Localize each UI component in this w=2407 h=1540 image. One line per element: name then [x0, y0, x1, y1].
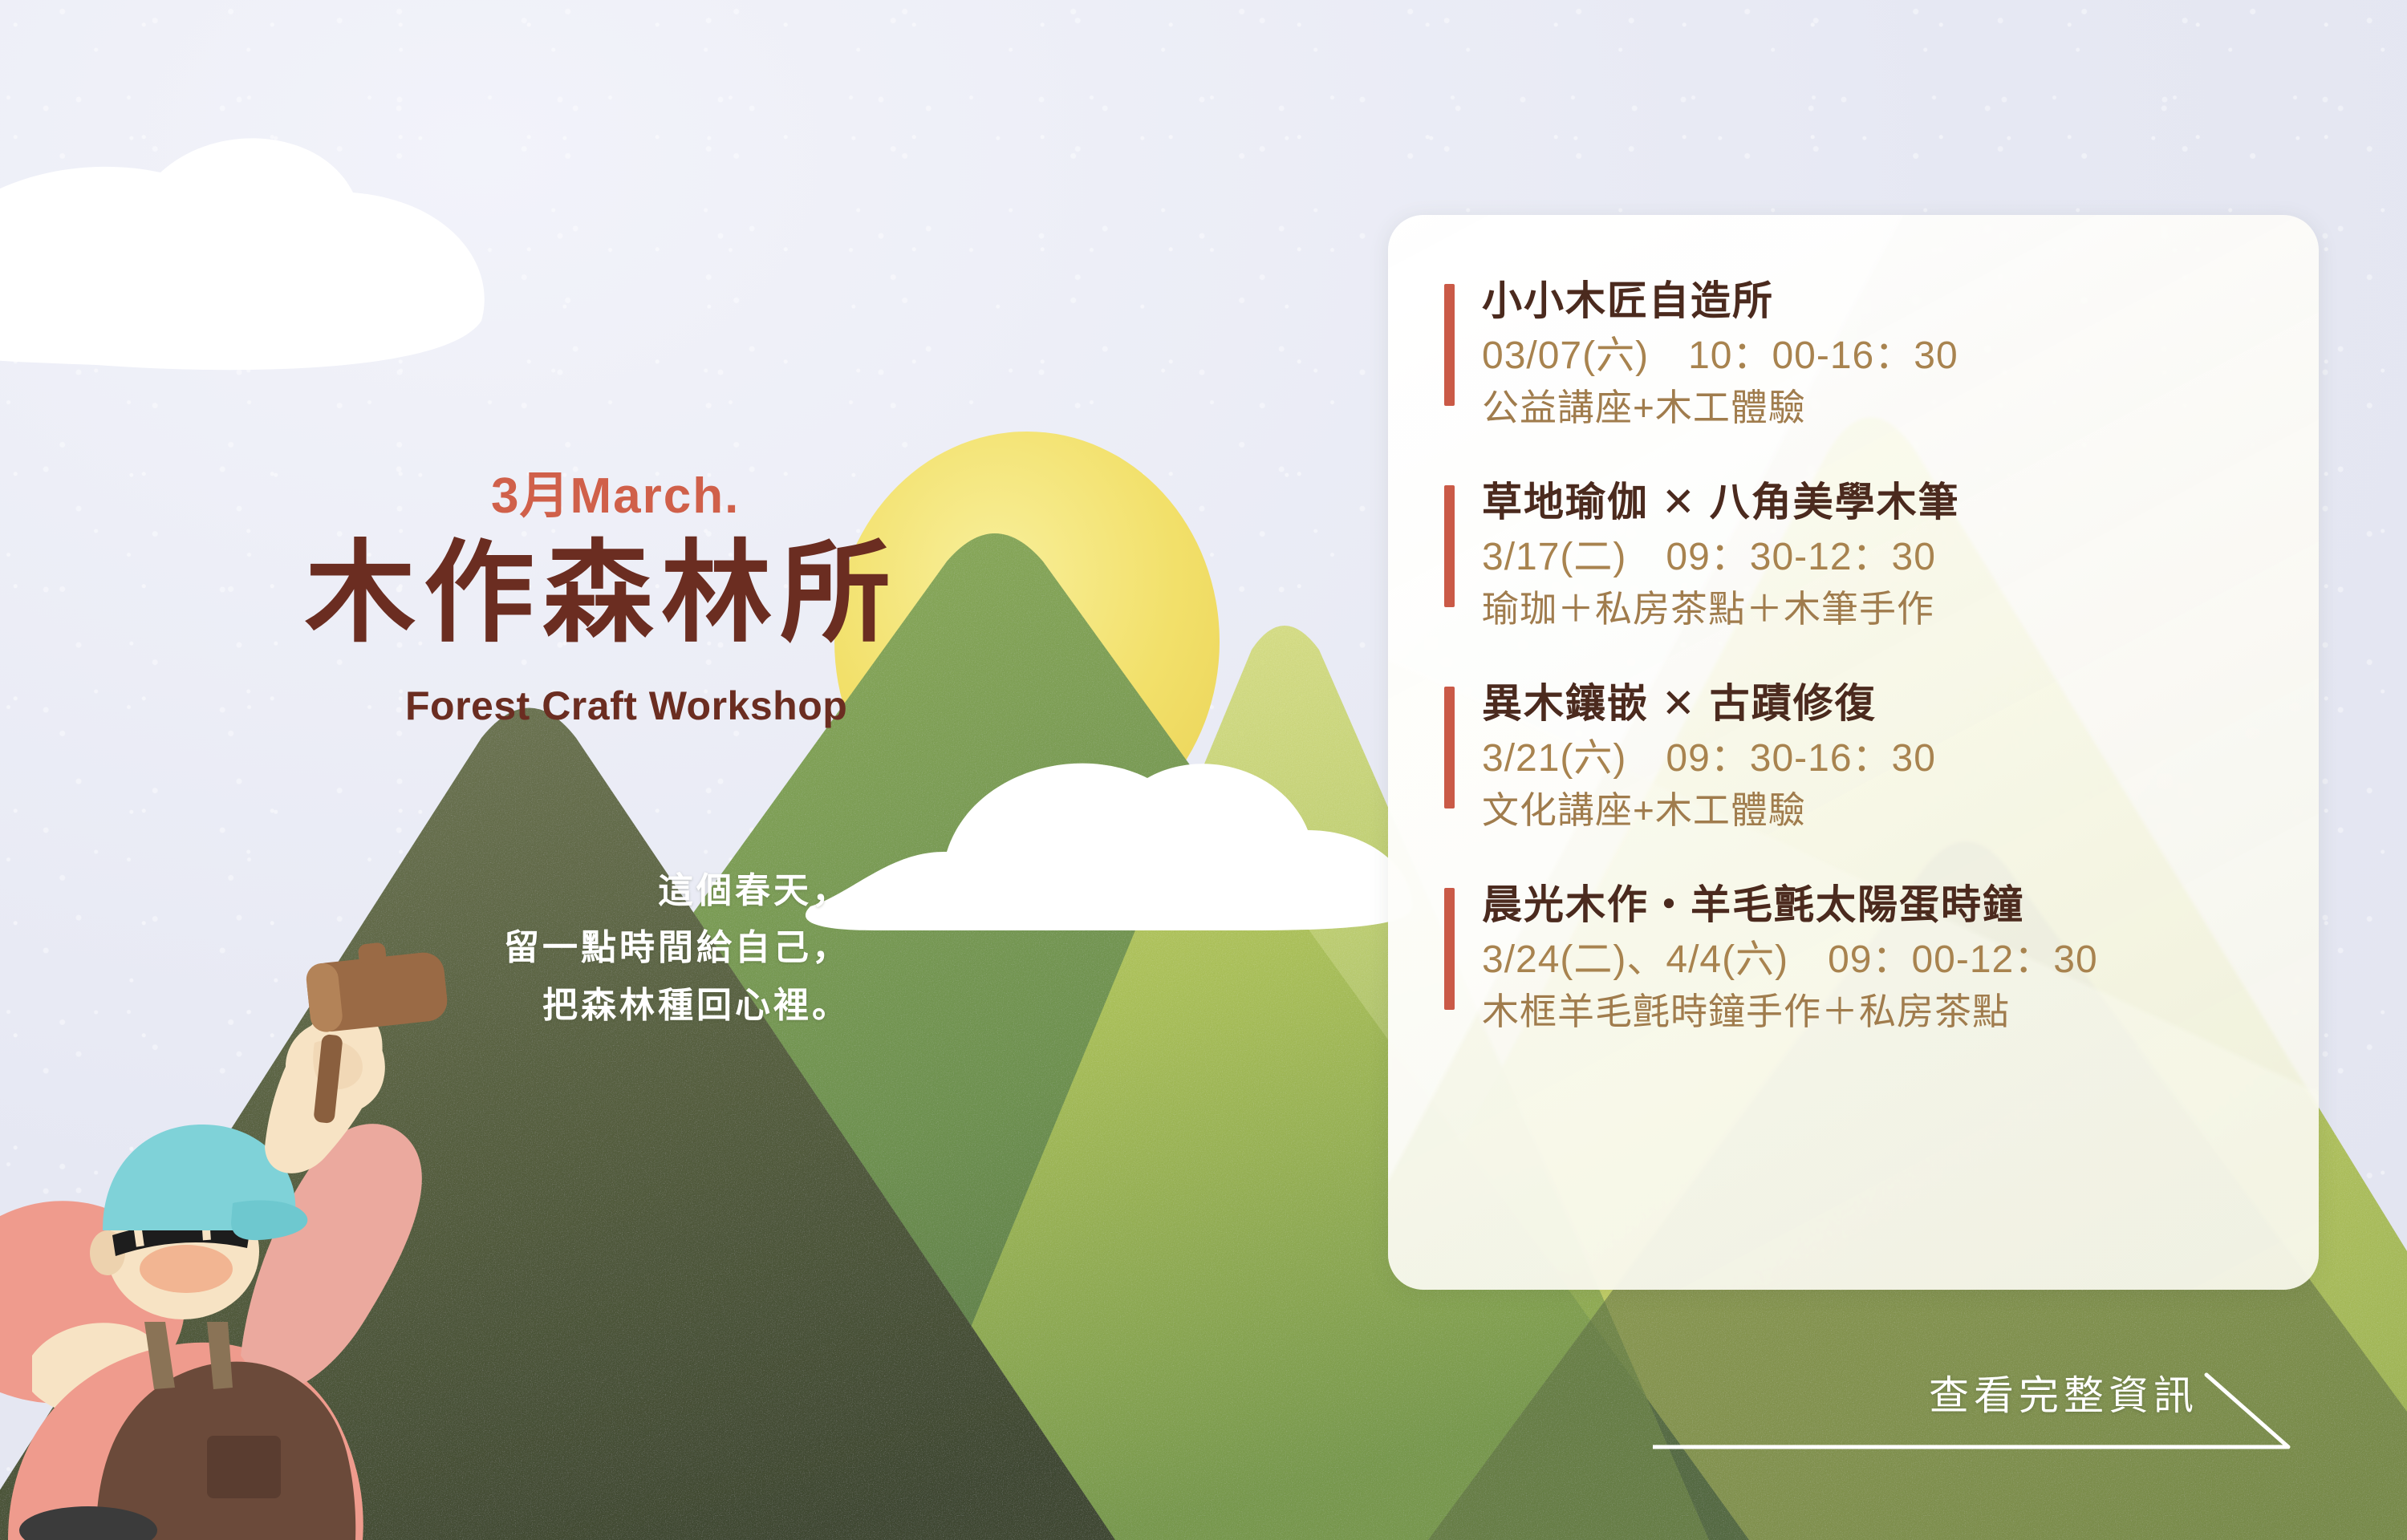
event-description: 文化講座+木工體驗: [1482, 787, 1936, 835]
accent-bar-icon: [1444, 888, 1455, 1010]
event-title: 異木鑲嵌 ✕ 古蹟修復: [1482, 680, 1936, 727]
event-body: 草地瑜伽 ✕ 八角美學木筆 3/17(二) 09：30-12：30 瑜珈＋私房茶…: [1482, 479, 1960, 634]
accent-bar-icon: [1444, 284, 1455, 406]
event-list-card: 小小木匠自造所 03/07(六) 10：00-16：30 公益講座+木工體驗 草…: [1388, 215, 2319, 1290]
event-description: 公益講座+木工體驗: [1482, 384, 1958, 432]
event-item[interactable]: 草地瑜伽 ✕ 八角美學木筆 3/17(二) 09：30-12：30 瑜珈＋私房茶…: [1444, 479, 2267, 634]
accent-bar-icon: [1444, 485, 1455, 607]
event-description: 瑜珈＋私房茶點＋木筆手作: [1482, 586, 1960, 634]
cloud-top-left: [0, 138, 485, 370]
event-body: 晨光木作・羊毛氈太陽蛋時鐘 3/24(二)、4/4(六) 09：00-12：30…: [1482, 881, 2098, 1036]
accent-bar-icon: [1444, 687, 1455, 808]
poster-canvas: 3月March. 木作森林所 Forest Craft Workshop 這個春…: [0, 0, 2407, 1540]
event-date: 3/17(二) 09：30-12：30: [1482, 531, 1960, 584]
event-body: 異木鑲嵌 ✕ 古蹟修復 3/21(六) 09：30-16：30 文化講座+木工體…: [1482, 680, 1936, 835]
event-title: 小小木匠自造所: [1482, 278, 1958, 325]
event-item[interactable]: 小小木匠自造所 03/07(六) 10：00-16：30 公益講座+木工體驗: [1444, 278, 2267, 432]
character-overall-pocket: [207, 1436, 281, 1498]
arrow-right-icon: [1653, 1364, 2319, 1468]
event-title: 晨光木作・羊毛氈太陽蛋時鐘: [1482, 881, 2098, 929]
event-title: 草地瑜伽 ✕ 八角美學木筆: [1482, 479, 1960, 526]
event-date: 3/21(六) 09：30-16：30: [1482, 732, 1936, 785]
view-full-info-cta[interactable]: 查看完整資訊: [1653, 1364, 2319, 1468]
event-body: 小小木匠自造所 03/07(六) 10：00-16：30 公益講座+木工體驗: [1482, 278, 1958, 432]
event-item[interactable]: 晨光木作・羊毛氈太陽蛋時鐘 3/24(二)、4/4(六) 09：00-12：30…: [1444, 881, 2267, 1036]
character-mouth: [140, 1245, 233, 1293]
event-description: 木框羊毛氈時鐘手作＋私房茶點: [1482, 988, 2098, 1036]
event-date: 3/24(二)、4/4(六) 09：00-12：30: [1482, 934, 2098, 987]
event-date: 03/07(六) 10：00-16：30: [1482, 330, 1958, 383]
event-item[interactable]: 異木鑲嵌 ✕ 古蹟修復 3/21(六) 09：30-16：30 文化講座+木工體…: [1444, 680, 2267, 835]
